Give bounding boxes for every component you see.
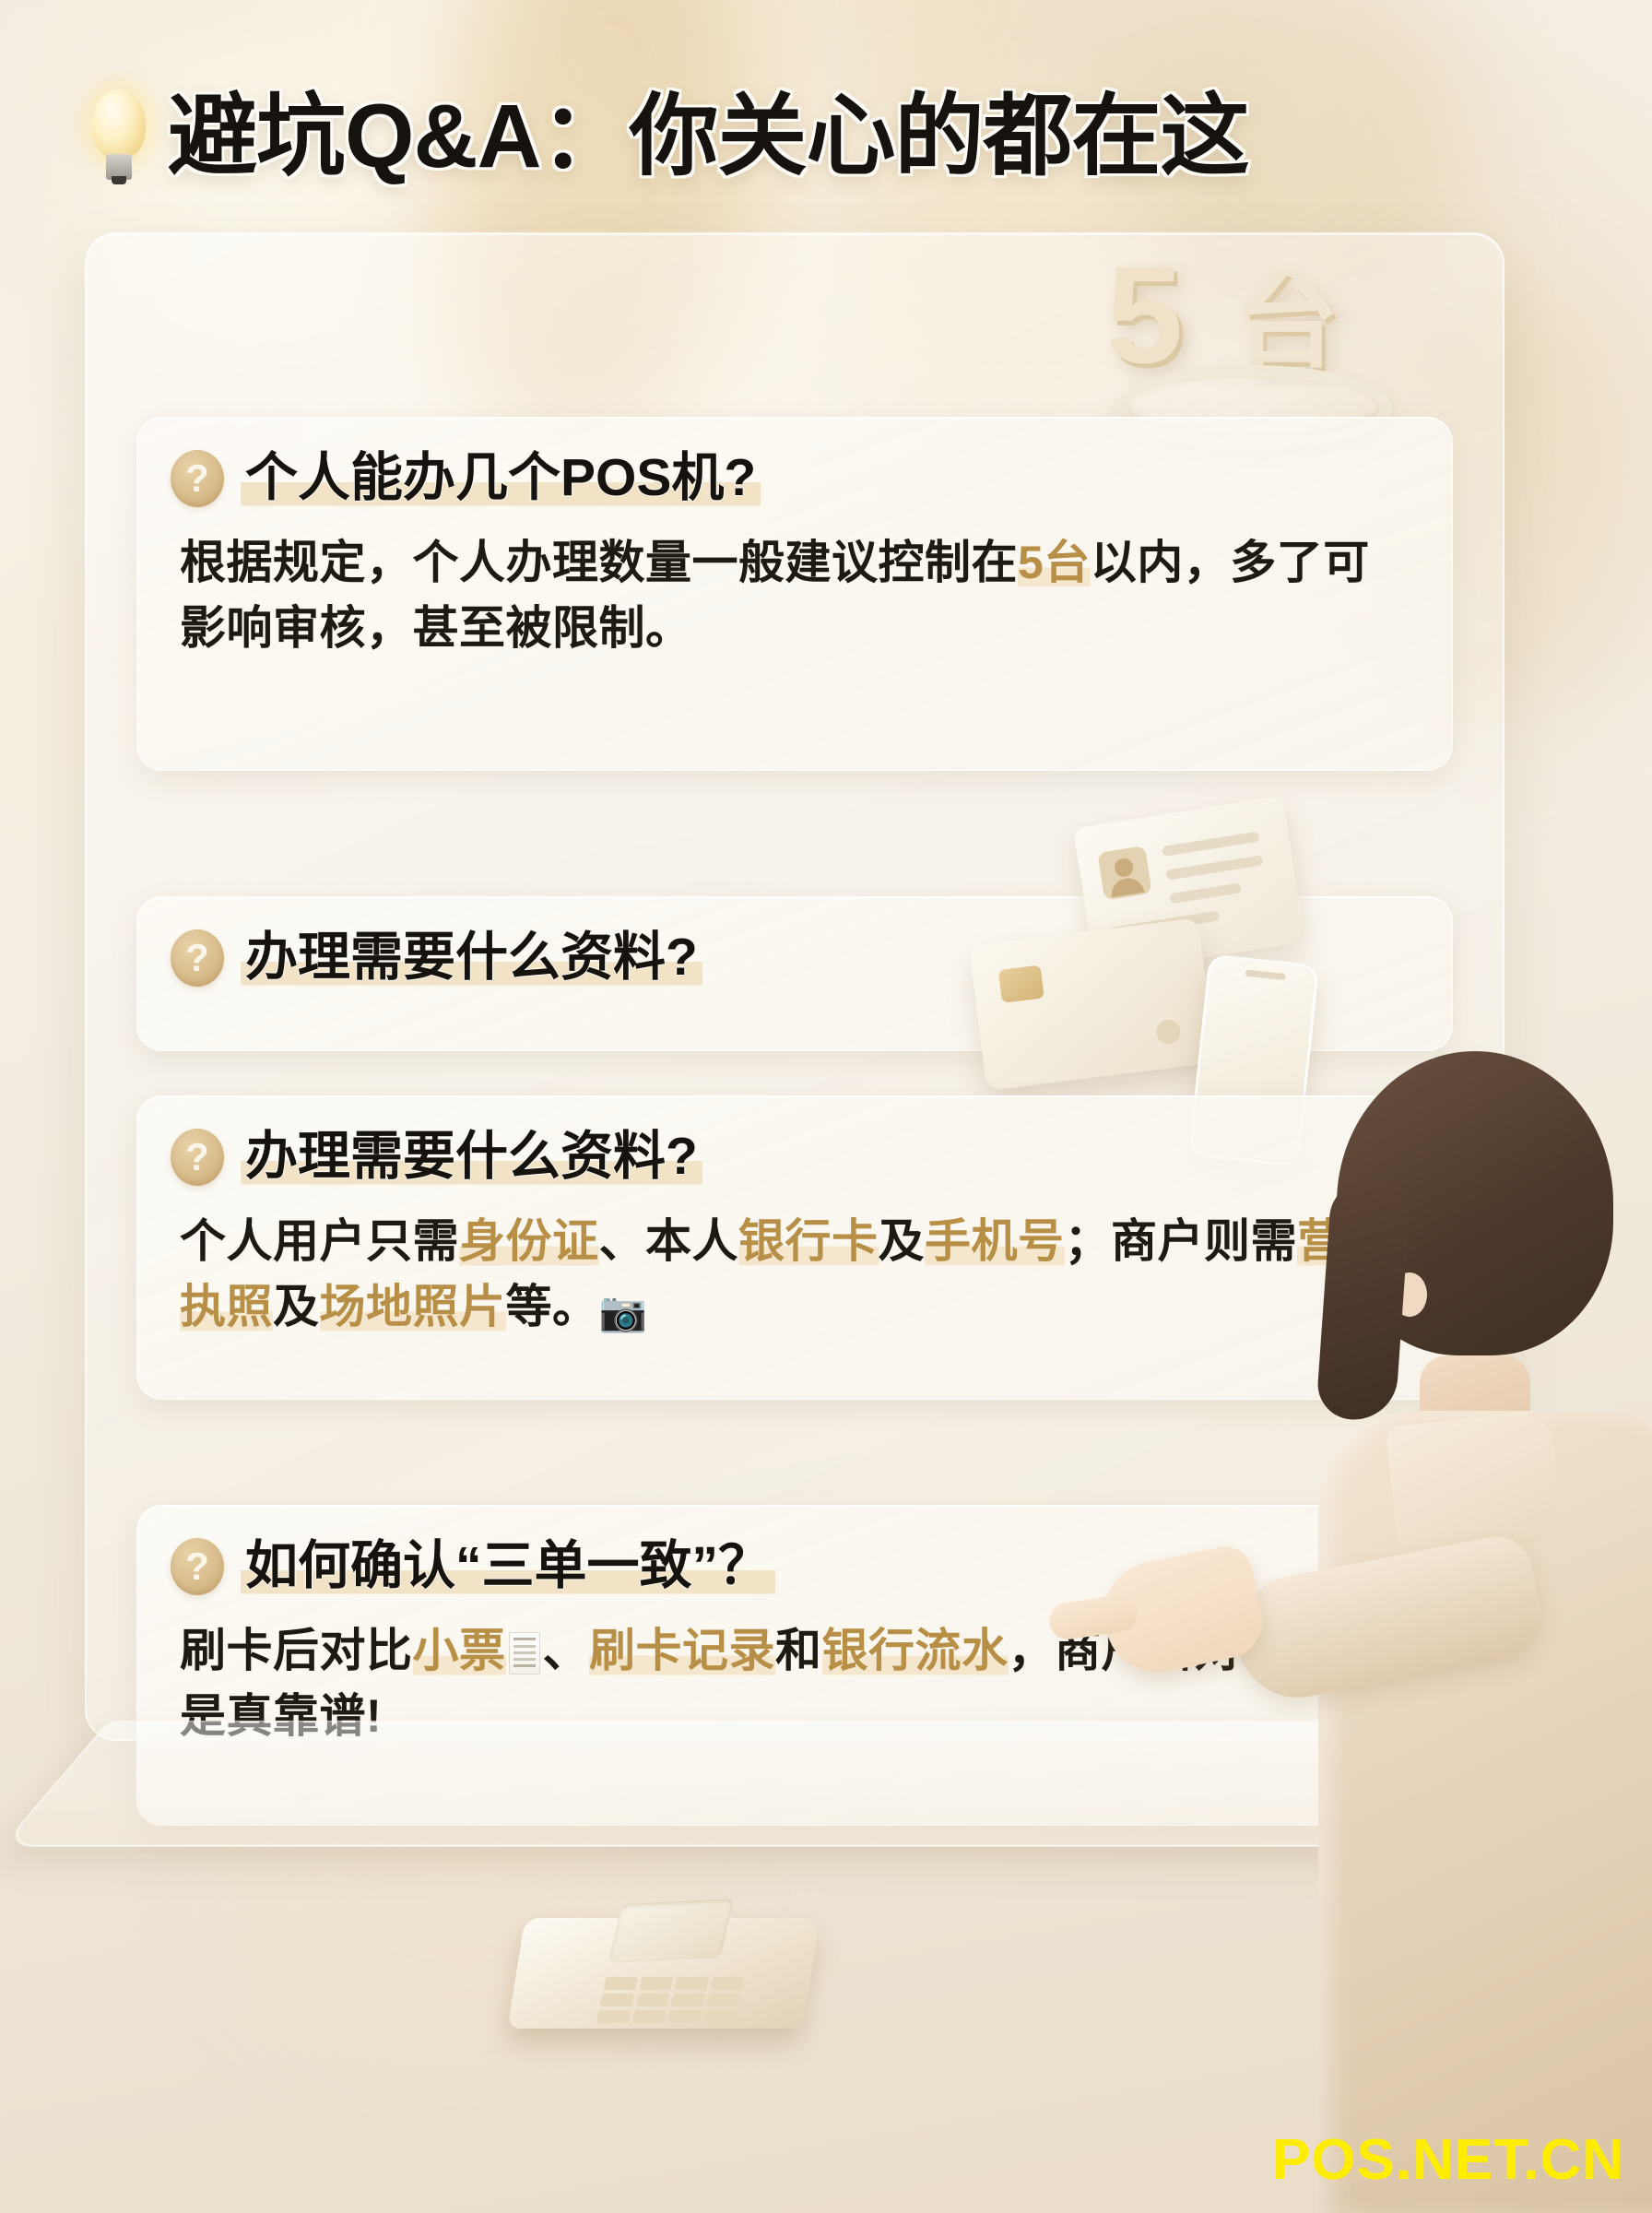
answer-segment: 和 xyxy=(775,1625,822,1676)
question-row: ? 办理需要什么资料? xyxy=(171,929,1415,988)
poster-root: 避坑Q&A：你关心的都在这 5 台 ? 个人能办几个POS机? 根据规定，个人办… xyxy=(0,0,1652,2213)
answer-text: 个人用户只需身份证、本人银行卡及手机号；商户则需营业执照及场地照片等。📷 xyxy=(180,1209,1415,1340)
woman-character-illustration xyxy=(1281,1042,1652,2213)
answer-segment: 及 xyxy=(879,1215,926,1267)
question-text: 办理需要什么资料? xyxy=(241,929,702,988)
pos-terminal-icon xyxy=(516,1881,839,2056)
highlighted-term: 身份证 xyxy=(459,1215,599,1267)
question-text: 办理需要什么资料? xyxy=(241,1128,702,1187)
question-text: 如何确认“三单一致”？ xyxy=(241,1537,775,1596)
page-title: 避坑Q&A：你关心的都在这 xyxy=(168,91,1249,181)
faq-card[interactable]: ? 个人能办几个POS机? 根据规定，个人办理数量一般建议控制在5台以内，多了可… xyxy=(136,417,1453,771)
question-row: ? 个人能办几个POS机? xyxy=(171,449,1415,508)
watermark: POS.NET.CN xyxy=(1272,2127,1624,2193)
answer-segment: 、本人 xyxy=(599,1215,739,1267)
lightbulb-icon xyxy=(85,88,153,183)
highlighted-term: 场地照片 xyxy=(320,1281,506,1332)
highlighted-term: 手机号 xyxy=(925,1215,1065,1267)
highlighted-term: 银行流水 xyxy=(822,1625,1009,1676)
question-text: 个人能办几个POS机? xyxy=(241,449,761,508)
receipt-icon xyxy=(509,1632,540,1675)
question-row: ? 办理需要什么资料? xyxy=(171,1128,1415,1187)
answer-segment: ；商户则需 xyxy=(1065,1215,1298,1267)
page-header: 避坑Q&A：你关心的都在这 xyxy=(0,88,1652,183)
answer-segment: 个人用户只需 xyxy=(180,1215,459,1267)
question-mark-icon: ? xyxy=(171,1129,224,1186)
highlighted-term: 小票 xyxy=(413,1625,506,1676)
answer-segment: 根据规定，个人办理数量一般建议控制在 xyxy=(180,537,1018,588)
highlighted-term: 银行卡 xyxy=(738,1215,879,1267)
answer-segment: 、 xyxy=(543,1625,590,1676)
highlighted-term: 刷卡记录 xyxy=(589,1625,775,1676)
answer-segment: 刷卡后对比 xyxy=(180,1625,413,1676)
faq-card[interactable]: ? 办理需要什么资料? 个人用户只需身份证、本人银行卡及手机号；商户则需营业执照… xyxy=(136,1095,1453,1400)
camera-icon: 📷 xyxy=(599,1290,648,1333)
answer-segment: 及 xyxy=(273,1281,320,1332)
question-mark-icon: ? xyxy=(171,1538,224,1595)
faq-card[interactable]: ? 办理需要什么资料? xyxy=(136,896,1453,1051)
question-mark-icon: ? xyxy=(171,929,224,987)
answer-segment: 等。 xyxy=(506,1281,599,1332)
highlighted-term: 5台 xyxy=(1018,537,1091,588)
answer-text: 根据规定，个人办理数量一般建议控制在5台以内，多了可影响审核，甚至被限制。 xyxy=(180,530,1415,661)
question-mark-icon: ? xyxy=(171,450,224,507)
